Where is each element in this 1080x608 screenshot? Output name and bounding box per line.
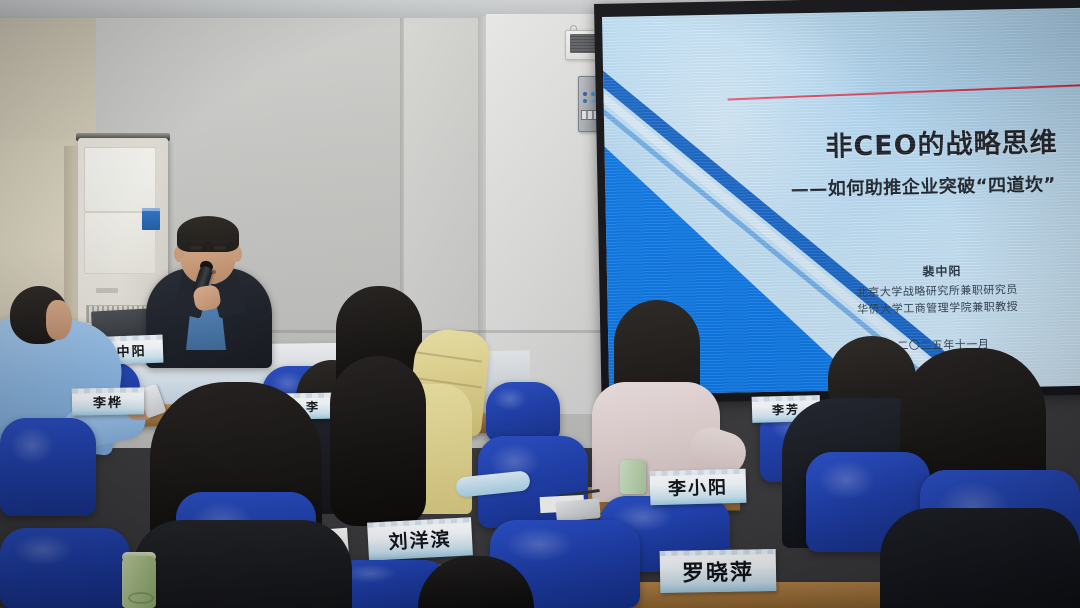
chair-highlight [505, 527, 574, 562]
placard-name: 李桦 [93, 392, 123, 412]
placard-name: 李 [306, 397, 320, 414]
placard-name: 罗晓萍 [682, 554, 755, 587]
slide-title: 非CEO的战略思维 [796, 128, 1080, 163]
chair-highlight [10, 426, 54, 465]
placard-name: 李小阳 [668, 473, 729, 501]
slide-affiliations: 北京大学战略研究所兼职研究员 华侨大学工商管理学院兼职教授 [787, 280, 1080, 320]
attendee-coat-foreground [132, 520, 352, 608]
attendee-hair-front [330, 356, 426, 526]
presenter-eye-right [214, 246, 226, 250]
smartphone-on-desk[interactable] [555, 498, 601, 522]
presenter-hair [177, 216, 239, 252]
ac-panel-upper [84, 147, 156, 212]
chair-highlight [818, 460, 875, 500]
placard-pattern [752, 395, 820, 402]
presenter-eyebrow-right [213, 240, 227, 243]
slide-subtitle: ——如何助推企业突破“四道坎” [755, 170, 1080, 202]
thermos-ring-detail [128, 592, 154, 604]
presenter-eye-left [190, 246, 202, 250]
chair-highlight [13, 534, 73, 566]
ac-brand-mark [96, 288, 118, 293]
name-placard: 李小阳 [650, 469, 747, 506]
slide-presenter-name: 裴中阳 [817, 260, 1067, 282]
control-indicator-icon [583, 92, 587, 96]
presenter-eyebrow-left [189, 240, 203, 243]
control-indicator-icon [583, 99, 587, 103]
control-indicator-icon [591, 92, 595, 96]
attendee-torso-foreground-right [880, 508, 1080, 608]
chair [486, 382, 560, 442]
chair-highlight [493, 387, 527, 411]
placard-name: 刘洋滨 [388, 524, 452, 554]
control-indicator-icon [591, 99, 595, 103]
name-placard: 刘洋滨 [367, 517, 473, 560]
name-placard: 罗晓萍 [660, 549, 777, 593]
green-cup[interactable] [620, 460, 646, 494]
placard-pattern [660, 549, 776, 556]
placard-pattern [72, 387, 144, 393]
chair [0, 528, 130, 608]
ac-energy-label [142, 208, 160, 230]
name-placard: 李桦 [72, 387, 144, 415]
chair [0, 418, 96, 516]
attendee-face [46, 300, 72, 340]
lecture-hall-photo: 非CEO的战略思维 ——如何助推企业突破“四道坎” 裴中阳 北京大学战略研究所兼… [0, 0, 1080, 608]
